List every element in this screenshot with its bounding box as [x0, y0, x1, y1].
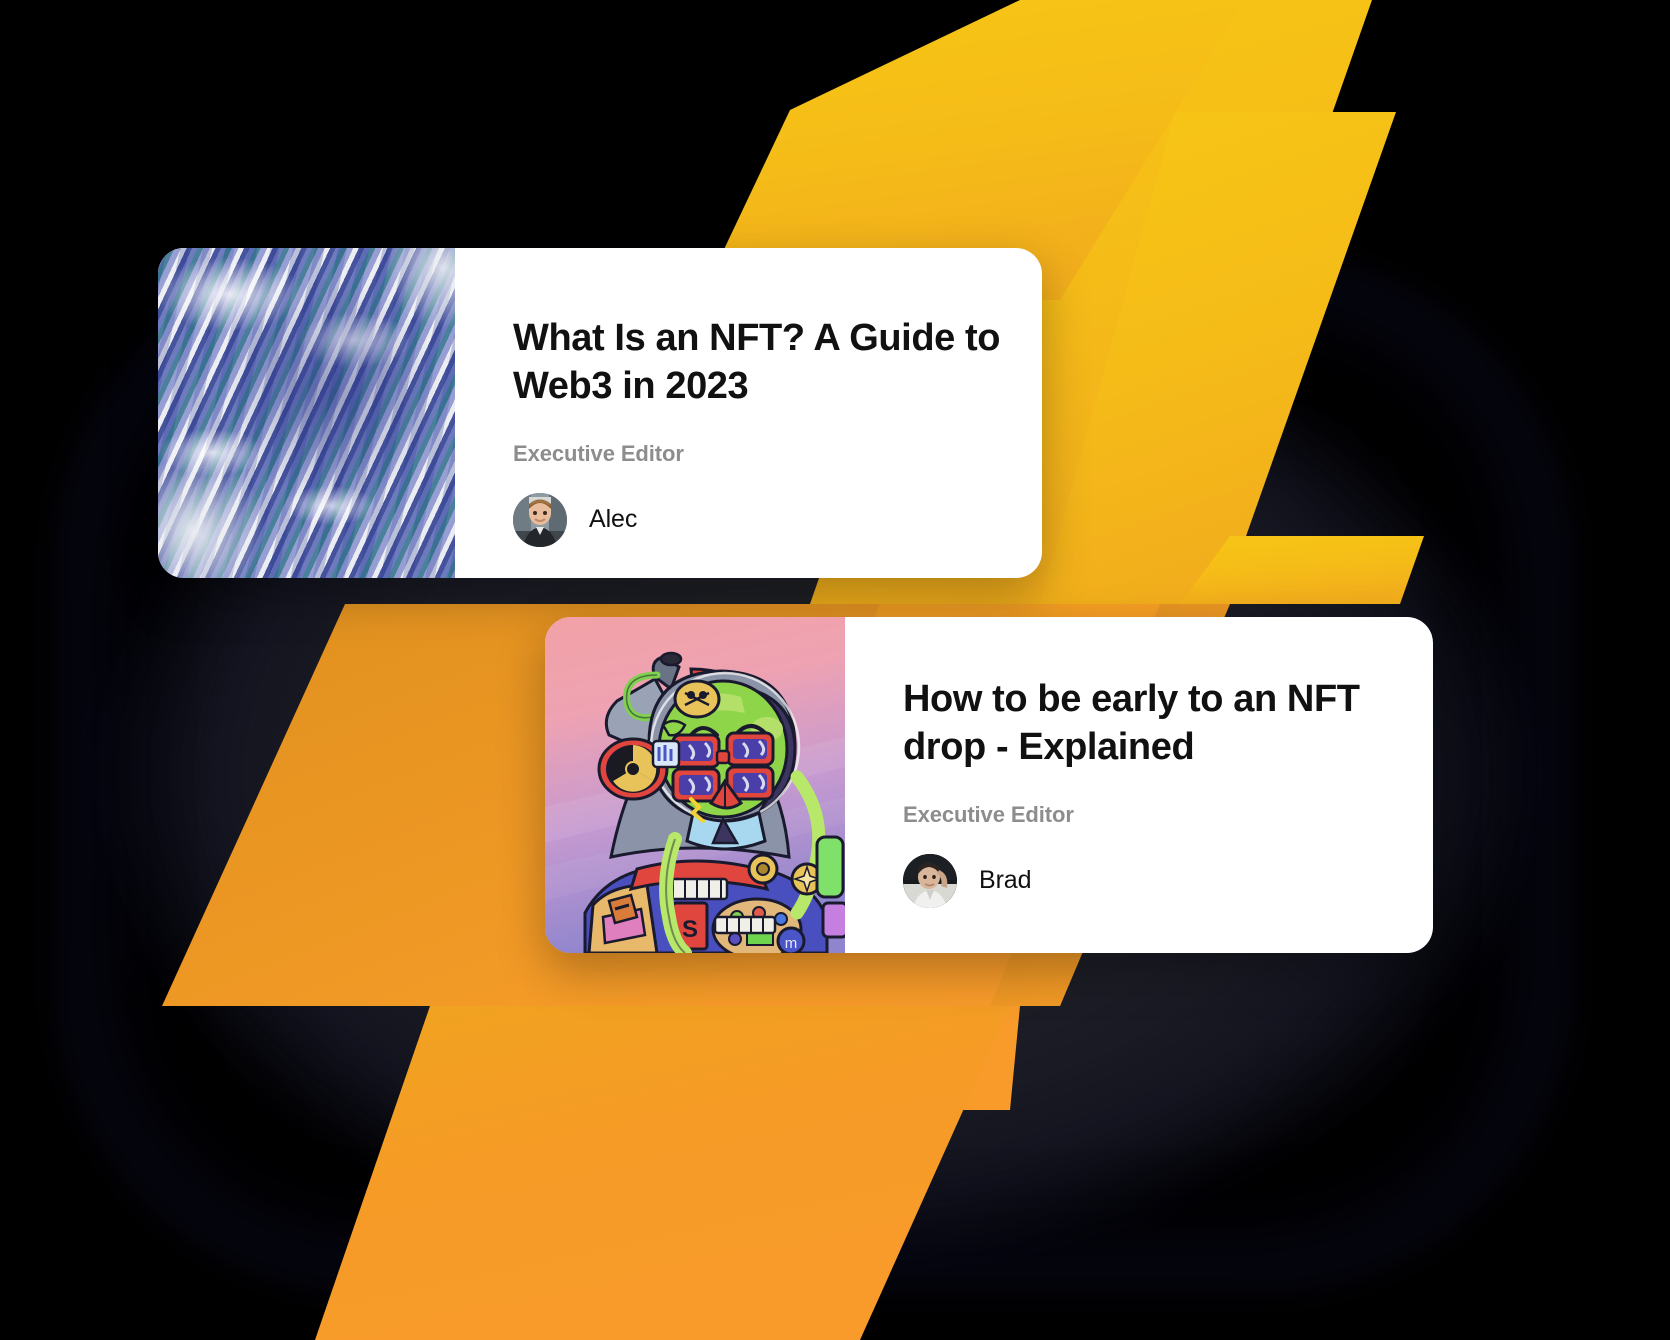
article-thumbnail — [158, 248, 455, 578]
article-card-body: How to be early to an NFT drop - Explain… — [845, 617, 1433, 953]
article-title: How to be early to an NFT drop - Explain… — [903, 675, 1393, 772]
svg-text:S: S — [682, 916, 698, 943]
article-title: What Is an NFT? A Guide to Web3 in 2023 — [513, 314, 1002, 411]
svg-text:m: m — [785, 935, 798, 952]
author-row: Alec — [513, 493, 1002, 547]
promo-graphic-stage: What Is an NFT? A Guide to Web3 in 2023 … — [0, 0, 1670, 1340]
abstract-blue-brushstroke-artwork — [158, 248, 455, 578]
article-card[interactable]: What Is an NFT? A Guide to Web3 in 2023 … — [158, 248, 1042, 578]
author-row: Brad — [903, 854, 1393, 908]
alien-astronaut-nft-artwork: S — [545, 617, 845, 953]
brad-avatar-photo — [903, 854, 957, 908]
article-thumbnail: S — [545, 617, 845, 953]
author-role: Executive Editor — [903, 802, 1393, 828]
author-name: Alec — [589, 505, 637, 534]
alec-avatar-photo — [513, 493, 567, 547]
author-role: Executive Editor — [513, 441, 1002, 467]
article-card[interactable]: S — [545, 617, 1433, 953]
article-card-body: What Is an NFT? A Guide to Web3 in 2023 … — [455, 248, 1042, 578]
author-name: Brad — [979, 866, 1031, 895]
